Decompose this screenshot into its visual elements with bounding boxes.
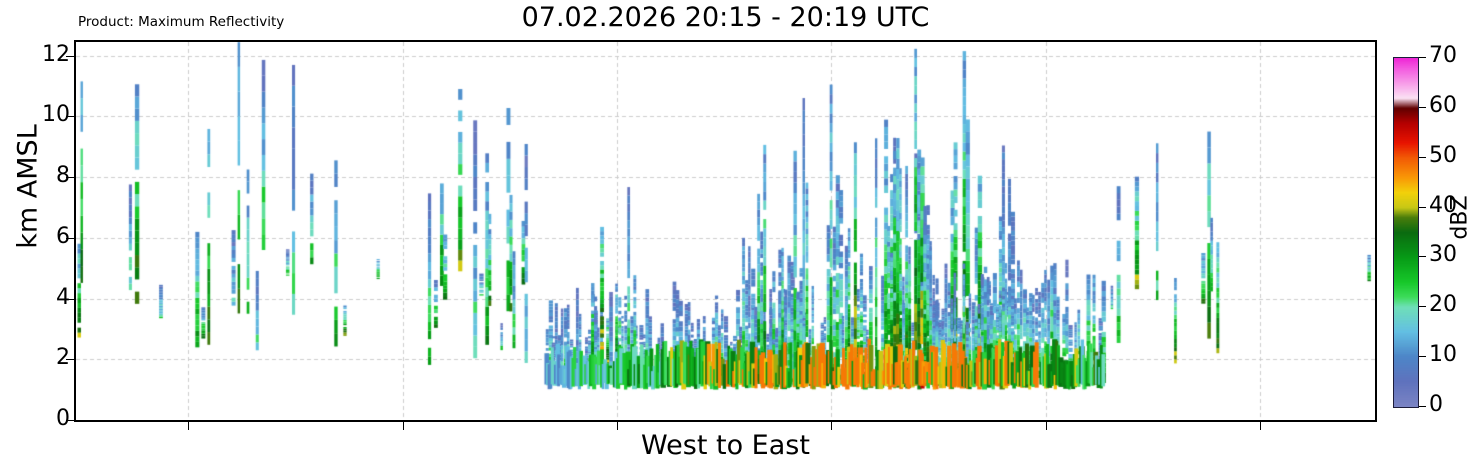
y-tick-label: 8 — [18, 165, 70, 187]
plot-area[interactable] — [74, 40, 1377, 422]
x-tick-mark — [1046, 422, 1047, 430]
colorbar — [1393, 57, 1419, 408]
colorbar-tick-label: 40 — [1429, 195, 1457, 217]
colorbar-tick-label: 50 — [1429, 145, 1457, 167]
colorbar-tick-label: 0 — [1429, 394, 1443, 416]
radar-cross-section-figure: 07.02.2026 20:15 - 20:19 UTC Product: Ma… — [0, 0, 1482, 470]
colorbar-tick-mark — [1419, 157, 1426, 158]
y-tick-label: 12 — [18, 44, 70, 66]
colorbar-gradient — [1393, 57, 1419, 408]
colorbar-tick-mark — [1419, 306, 1426, 307]
y-tick-label: 10 — [18, 104, 70, 126]
y-tick-label: 0 — [18, 408, 70, 430]
x-tick-mark — [403, 422, 404, 430]
x-tick-mark — [188, 422, 189, 430]
reflectivity-heatmap-canvas — [76, 42, 1375, 420]
x-axis-label: West to East — [74, 430, 1377, 461]
colorbar-tick-label: 20 — [1429, 294, 1457, 316]
x-tick-mark — [1260, 422, 1261, 430]
colorbar-tick-label: 60 — [1429, 95, 1457, 117]
y-tick-label: 6 — [18, 226, 70, 248]
product-annotation: Product: Maximum Reflectivity — [78, 14, 284, 30]
colorbar-tick-mark — [1419, 207, 1426, 208]
colorbar-tick-mark — [1419, 406, 1426, 407]
x-tick-mark — [831, 422, 832, 430]
colorbar-tick-mark — [1419, 107, 1426, 108]
colorbar-tick-label: 70 — [1429, 45, 1457, 67]
y-tick-label: 2 — [18, 347, 70, 369]
colorbar-tick-label: 10 — [1429, 344, 1457, 366]
x-tick-mark — [617, 422, 618, 430]
colorbar-tick-mark — [1419, 256, 1426, 257]
colorbar-tick-mark — [1419, 57, 1426, 58]
colorbar-tick-label: 30 — [1429, 244, 1457, 266]
colorbar-tick-mark — [1419, 356, 1426, 357]
y-tick-label: 4 — [18, 287, 70, 309]
